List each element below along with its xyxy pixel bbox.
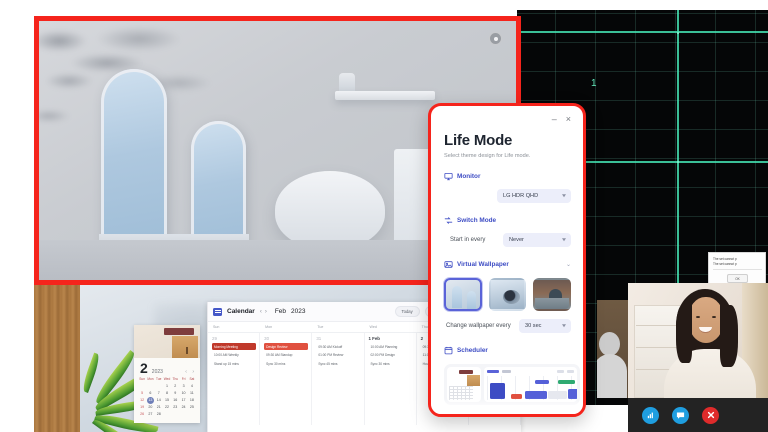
illustration-arch [172, 336, 198, 358]
paper-calendar-day: 26 [138, 411, 146, 418]
paper-calendar-day: 22 [163, 404, 171, 411]
calendar-illustration [134, 325, 200, 358]
paper-calendar-dow: Wed [163, 376, 171, 383]
paper-calendar-day: 8 [163, 390, 171, 397]
change-wallpaper-value: 30 sec [525, 323, 541, 329]
participant-body [597, 354, 627, 398]
wallpaper-bowl-object [275, 171, 385, 249]
calendar-day-column[interactable]: 30Design Review09:30 AM StandupSync 30 m… [260, 333, 312, 425]
illustration-banner [164, 328, 194, 335]
paper-calendar-day: 13 [146, 397, 154, 404]
calendar-event[interactable]: 10:00 AM Planning [369, 343, 413, 350]
change-wallpaper-select[interactable]: 30 sec [519, 319, 571, 333]
paper-calendar-day [138, 383, 146, 390]
paper-calendar-dow: Tue [155, 376, 163, 383]
wallpaper-thumbnail-list [444, 278, 571, 311]
scheduler-preview-agenda [484, 367, 577, 402]
calendar-icon [444, 346, 453, 355]
paper-calendar-month: 2 [140, 361, 148, 375]
illustration-figure [186, 347, 188, 354]
calendar-nav-arrows[interactable]: ‹› [260, 309, 270, 315]
cad-axis-horizontal-top [517, 31, 768, 33]
calendar-month-label: Feb [275, 308, 286, 315]
participant-eye-left [696, 316, 700, 318]
signal-icon[interactable] [642, 407, 659, 424]
video-feed [628, 283, 768, 398]
wallpaper-arch-large [101, 69, 167, 259]
paper-calendar-day: 12 [138, 397, 146, 404]
calendar-event[interactable]: Design Review [264, 343, 308, 350]
calendar-day-column[interactable]: 29Morning Meeting10:00 AM WeeklyStand up… [208, 333, 260, 425]
section-switch-mode: Switch Mode [444, 216, 571, 225]
window-controls: – × [444, 113, 571, 126]
paper-calendar-day: 23 [171, 404, 179, 411]
close-icon[interactable]: × [566, 115, 571, 124]
wallpaper-thumb-arches[interactable] [444, 278, 482, 311]
section-scheduler-label: Scheduler [457, 347, 488, 354]
start-in-every-label: Start in every [444, 237, 485, 243]
wallpaper-shelf [335, 91, 435, 100]
calendar-event[interactable]: Sync 30 mins [264, 360, 308, 367]
paper-calendar-grid: SunMonTueWedThuFriSat1234567891011121314… [134, 376, 200, 418]
paper-calendar-dow: Fri [179, 376, 187, 383]
paper-calendar-day: 25 [188, 404, 196, 411]
cad-node-dot [677, 161, 679, 163]
dialog-subtitle: Select theme design for Life mode. [444, 153, 571, 159]
paper-calendar-day: 1 [163, 383, 171, 390]
paper-calendar-dow: Sat [188, 376, 196, 383]
paper-calendar-day: 6 [146, 390, 154, 397]
cad-node-dot [677, 32, 679, 34]
calendar-app-logo-icon [213, 308, 222, 316]
monitor-select[interactable]: LG HDR QHD [497, 189, 571, 203]
paper-calendar-day: 15 [163, 397, 171, 404]
calendar-day-number: 31 [316, 336, 360, 341]
section-switch-mode-label: Switch Mode [457, 217, 496, 224]
calendar-dow-header: Tue [312, 322, 364, 332]
participant-face [688, 297, 724, 343]
chat-bubble-icon[interactable] [672, 407, 689, 424]
dialog-ok-button[interactable]: OK [727, 274, 748, 283]
paper-calendar-day: 21 [155, 404, 163, 411]
participant-head [599, 332, 620, 356]
calendar-event[interactable]: 01:00 PM Review [316, 352, 360, 359]
paper-calendar-dow: Thu [171, 376, 179, 383]
participant-hair-left [676, 305, 692, 363]
minimize-icon[interactable]: – [552, 115, 557, 124]
paper-calendar-day [155, 383, 163, 390]
calendar-day-number: 29 [212, 336, 256, 341]
change-wallpaper-label: Change wallpaper every [444, 323, 511, 329]
paper-calendar-day: 4 [188, 383, 196, 390]
calendar-dow-header: Mon [260, 322, 312, 332]
calendar-day-number: 1 Feb [369, 336, 413, 341]
section-virtual-wallpaper[interactable]: Virtual Wallpaper ⌄ [444, 260, 571, 269]
calendar-event[interactable]: Sync 45 mins [316, 360, 360, 367]
paper-calendar-day: 19 [138, 404, 146, 411]
monitor-icon [444, 172, 453, 181]
cad-axis-label: 1 [591, 78, 597, 89]
section-monitor: Monitor [444, 172, 571, 181]
wallpaper-thumb-sphere[interactable] [489, 278, 527, 311]
paper-calendar-day: 18 [188, 397, 196, 404]
paper-calendar-day: 27 [146, 411, 154, 418]
dialog-title: Life Mode [444, 132, 571, 149]
section-monitor-label: Monitor [457, 173, 480, 180]
calendar-event[interactable]: Sync 30 mins [369, 360, 413, 367]
life-mode-dialog[interactable]: – × Life Mode Select theme design for Li… [428, 103, 586, 417]
paper-calendar-day: 5 [138, 390, 146, 397]
paper-calendar-day: 3 [179, 383, 187, 390]
paper-calendar-day: 10 [179, 390, 187, 397]
paper-calendar-day: 17 [179, 397, 187, 404]
section-scheduler[interactable]: Scheduler [444, 346, 571, 355]
change-wallpaper-row: Change wallpaper every 30 sec [444, 319, 571, 333]
close-x-icon[interactable] [702, 407, 719, 424]
calendar-today-button[interactable]: Today [395, 306, 420, 317]
life-mode-content: – × Life Mode Select theme design for Li… [431, 106, 583, 414]
paper-calendar-year: 2023 [152, 369, 163, 375]
calendar-dow-header: Wed [365, 322, 417, 332]
wallpaper-thumb-sunset[interactable] [533, 278, 571, 311]
calendar-event[interactable]: 02:00 PM Design [369, 352, 413, 359]
paper-calendar-day: 11 [188, 390, 196, 397]
paper-calendar-dow: Sun [138, 376, 146, 383]
screen-root: 1 The set cannot p The set cannot p OK 2 [0, 0, 768, 432]
calendar-day-number: 30 [264, 336, 308, 341]
video-call-controls [628, 398, 768, 432]
dialog-line-2: The set cannot p [713, 262, 762, 267]
switch-mode-icon [444, 216, 453, 225]
paper-calendar-header: 2 2023 ‹ › [134, 358, 200, 376]
calendar-event[interactable]: 09:30 AM Kickoff [316, 343, 360, 350]
calendar-event[interactable]: Morning Meeting [212, 343, 256, 350]
paper-calendar-day [163, 411, 171, 418]
paper-calendar-day: 2 [171, 383, 179, 390]
paper-calendar-day [171, 411, 179, 418]
calendar-dow-header: Sun [208, 322, 260, 332]
paper-calendar-day: 20 [146, 404, 154, 411]
switch-mode-row: Start in every Never [444, 233, 571, 247]
calendar-event[interactable]: 10:00 AM Weekly [212, 352, 256, 359]
participant-hair-right [720, 305, 738, 367]
calendar-day-column[interactable]: 3109:30 AM Kickoff01:00 PM ReviewSync 45… [312, 333, 364, 425]
chevron-down-icon [562, 324, 566, 327]
secondary-participant-tile [597, 300, 631, 398]
chevron-down-icon[interactable]: ⌄ [566, 261, 571, 268]
image-icon [444, 260, 453, 269]
paper-calendar-day [179, 411, 187, 418]
dialog-actions: OK [713, 269, 762, 283]
paper-calendar-day: 7 [155, 390, 163, 397]
paper-calendar-dow: Mon [146, 376, 154, 383]
section-virtual-wallpaper-label: Virtual Wallpaper [457, 261, 509, 268]
video-call-window[interactable] [628, 283, 768, 432]
start-in-every-value: Never [509, 237, 524, 243]
paper-desk-calendar: 2 2023 ‹ › SunMonTueWedThuFriSat12345678… [134, 325, 200, 423]
scheduler-preview[interactable] [444, 364, 580, 405]
paper-calendar-day: 16 [171, 397, 179, 404]
calendar-event[interactable]: Stand up 15 mins [212, 360, 256, 367]
paper-calendar-day: 9 [171, 390, 179, 397]
participant-eye-right [712, 316, 716, 318]
calendar-year-label: 2023 [291, 308, 305, 315]
monitor-select-value: LG HDR QHD [503, 193, 538, 199]
calendar-day-column[interactable]: 1 Feb10:00 AM Planning02:00 PM DesignSyn… [365, 333, 417, 425]
calendar-app-title: Calendar [227, 308, 255, 315]
paper-calendar-day: 28 [155, 411, 163, 418]
paper-calendar-nav: ‹ › [185, 369, 196, 375]
calendar-event[interactable]: 09:30 AM Standup [264, 352, 308, 359]
paper-calendar-day: 24 [179, 404, 187, 411]
start-in-every-select[interactable]: Never [503, 233, 571, 247]
paper-calendar-day [146, 383, 154, 390]
close-dot-icon[interactable] [489, 32, 502, 45]
chevron-down-icon [562, 238, 566, 241]
scheduler-preview-calendar [447, 367, 481, 402]
paper-calendar-day: 14 [155, 397, 163, 404]
paper-calendar-day [188, 411, 196, 418]
wallpaper-vase [339, 73, 355, 93]
monitor-select-row: LG HDR QHD [444, 189, 571, 203]
chevron-down-icon [562, 194, 566, 197]
